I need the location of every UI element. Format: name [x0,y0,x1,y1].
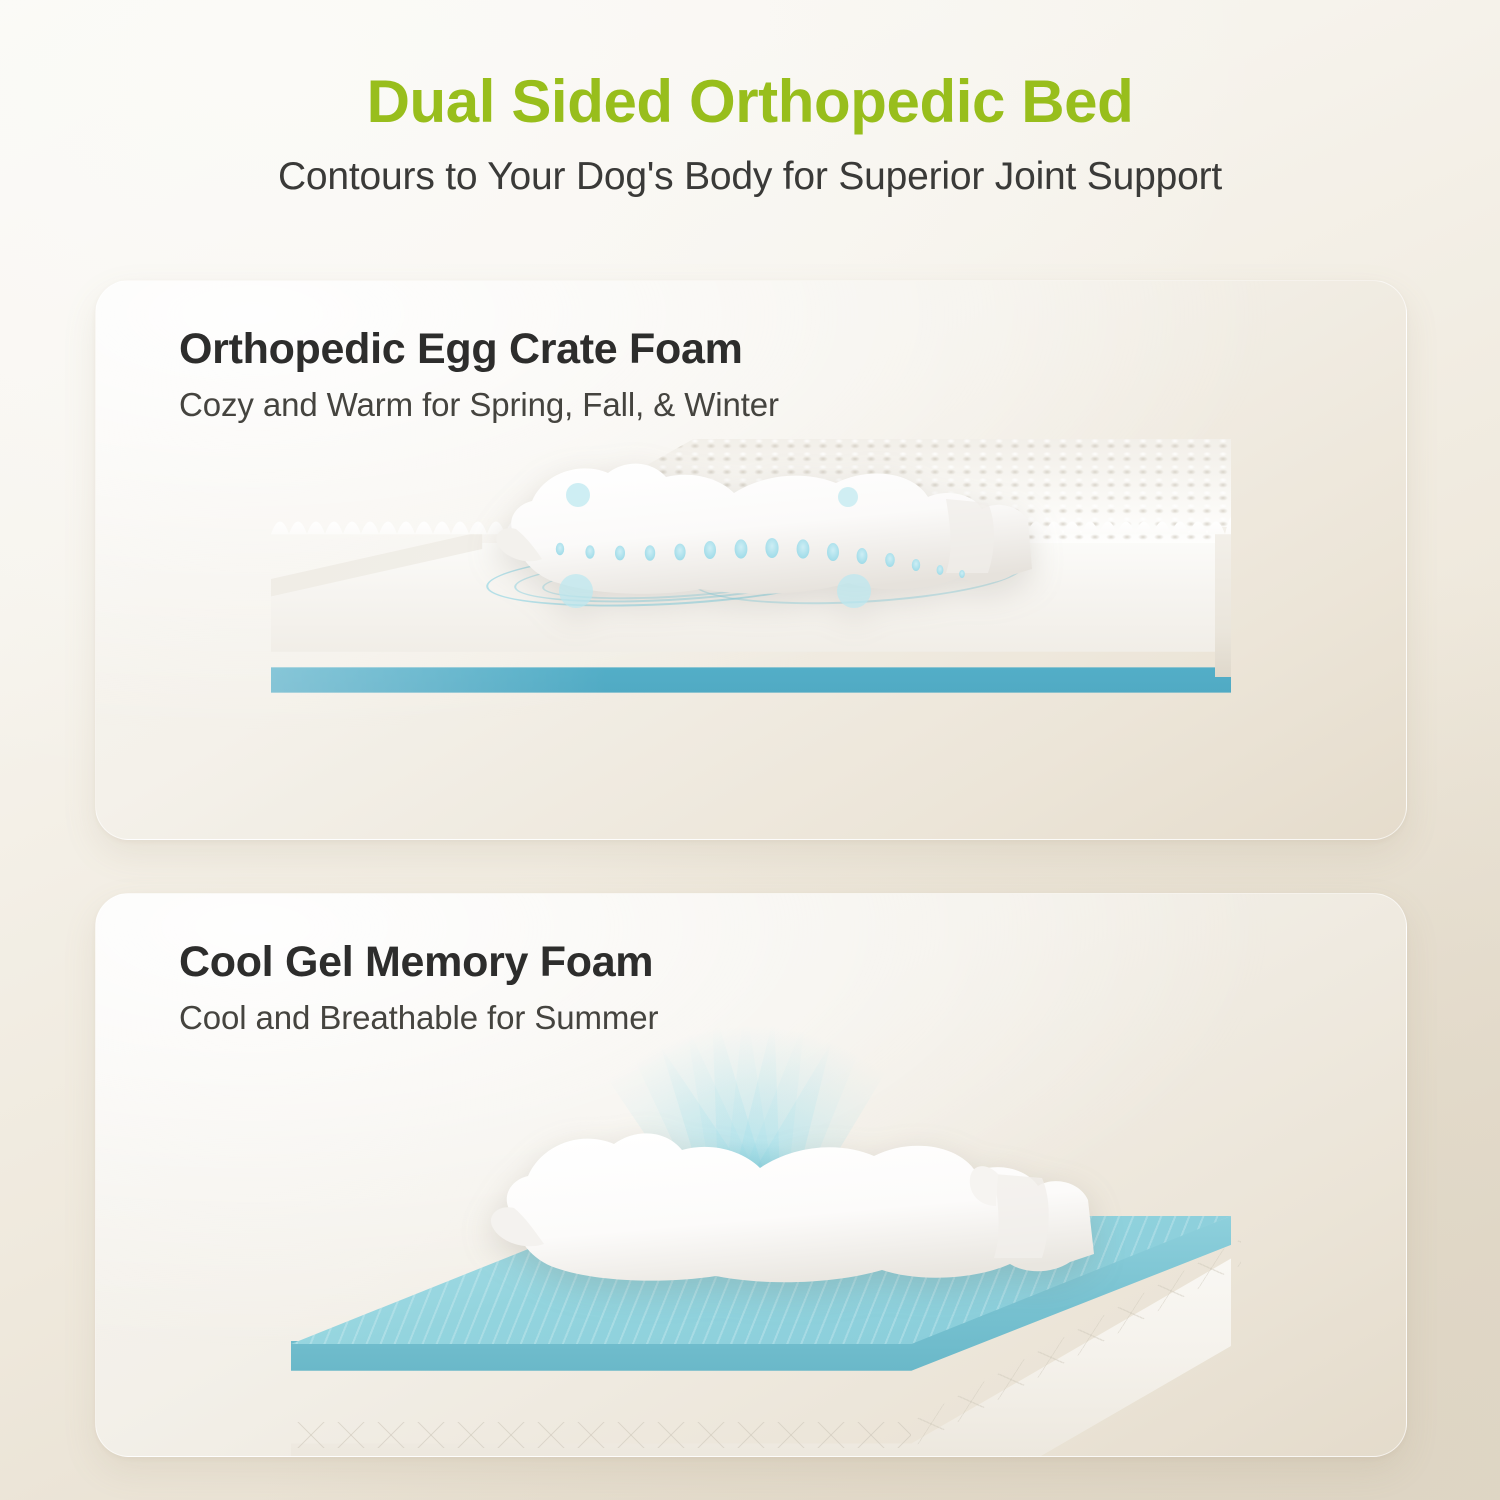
card-title: Cool Gel Memory Foam [179,938,658,986]
product-infographic: Dual Sided Orthopedic Bed Contours to Yo… [0,0,1500,1500]
cool-gel-foam-illustration [96,1016,1406,1456]
page-subtitle: Contours to Your Dog's Body for Superior… [0,134,1500,199]
dog-silhouette-lying [466,1118,1126,1298]
foam-right-end-cap [1215,527,1231,677]
card-title: Orthopedic Egg Crate Foam [179,325,779,373]
egg-crate-foam-illustration [96,419,1406,839]
base-zigzag-edge-front [291,1422,911,1448]
dog-silhouette-lying [476,449,1086,609]
shoulder-joint-highlight [566,483,590,507]
hip-joint-highlight [838,487,858,507]
card-subtitle: Cozy and Warm for Spring, Fall, & Winter [179,373,779,424]
header: Dual Sided Orthopedic Bed Contours to Yo… [0,0,1500,198]
feature-card-cool-gel-memory-foam: Cool Gel Memory Foam Cool and Breathable… [95,893,1407,1457]
rear-leg-joint-highlight [837,574,871,608]
front-leg-joint-highlight [559,574,593,608]
page-title: Dual Sided Orthopedic Bed [0,0,1500,134]
feature-card-orthopedic-egg-crate-foam: Orthopedic Egg Crate Foam Cozy and Warm … [95,280,1407,840]
card-header: Orthopedic Egg Crate Foam Cozy and Warm … [179,325,779,424]
